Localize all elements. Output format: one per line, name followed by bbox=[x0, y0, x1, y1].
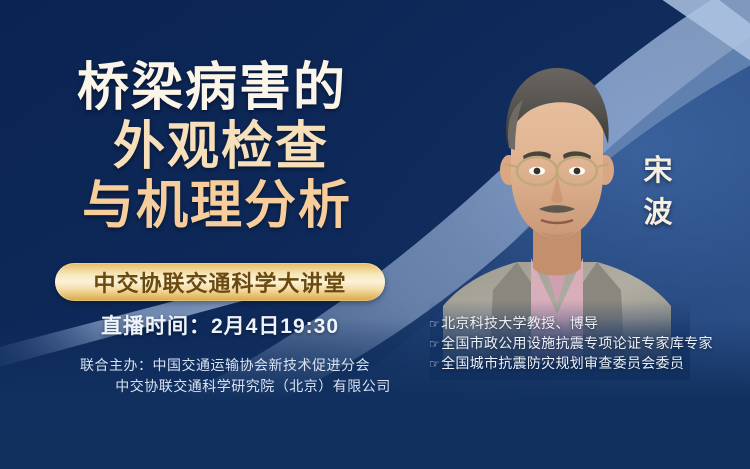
credential-item: ☞ 全国市政公用设施抗震专项论证专家库专家 bbox=[429, 333, 713, 353]
poster-title: 桥梁病害的 外观检查 与机理分析 bbox=[0, 62, 430, 232]
live-time: 直播时间：2月4日19:30 bbox=[0, 310, 440, 340]
pointing-hand-icon: ☞ bbox=[429, 334, 440, 354]
webinar-poster: 桥梁病害的 外观检查 与机理分析 中交协联交通科学大讲堂 直播时间：2月4日19… bbox=[0, 0, 750, 469]
credential-text: 全国市政公用设施抗震专项论证专家库专家 bbox=[441, 333, 713, 353]
credential-text: 全国城市抗震防灾规划审查委员会委员 bbox=[441, 353, 684, 373]
series-badge: 中交协联交通科学大讲堂 bbox=[55, 263, 385, 301]
credential-item: ☞ 全国城市抗震防灾规划审查委员会委员 bbox=[429, 353, 713, 373]
pointing-hand-icon: ☞ bbox=[429, 354, 440, 374]
speaker-name: 宋 波 bbox=[631, 150, 687, 234]
speaker-credentials: ☞ 北京科技大学教授、博导 ☞ 全国市政公用设施抗震专项论证专家库专家 ☞ 全国… bbox=[429, 313, 713, 373]
credential-text: 北京科技大学教授、博导 bbox=[441, 313, 598, 333]
series-badge-label: 中交协联交通科学大讲堂 bbox=[93, 266, 346, 298]
title-line-3: 与机理分析 bbox=[4, 180, 430, 232]
speaker-name-char-2: 波 bbox=[631, 192, 687, 234]
organizer-line-1: 联合主办：中国交通运输协会新技术促进分会 bbox=[0, 355, 450, 376]
organizer-line-2: 中交协联交通科学研究院（北京）有限公司 bbox=[0, 376, 450, 397]
title-line-2: 外观检查 bbox=[12, 121, 430, 173]
organizers: 联合主办：中国交通运输协会新技术促进分会 中交协联交通科学研究院（北京）有限公司 bbox=[0, 355, 450, 397]
speaker-name-char-1: 宋 bbox=[631, 150, 687, 192]
pointing-hand-icon: ☞ bbox=[429, 314, 440, 334]
credential-item: ☞ 北京科技大学教授、博导 bbox=[429, 313, 713, 333]
title-line-1: 桥梁病害的 bbox=[0, 62, 430, 114]
